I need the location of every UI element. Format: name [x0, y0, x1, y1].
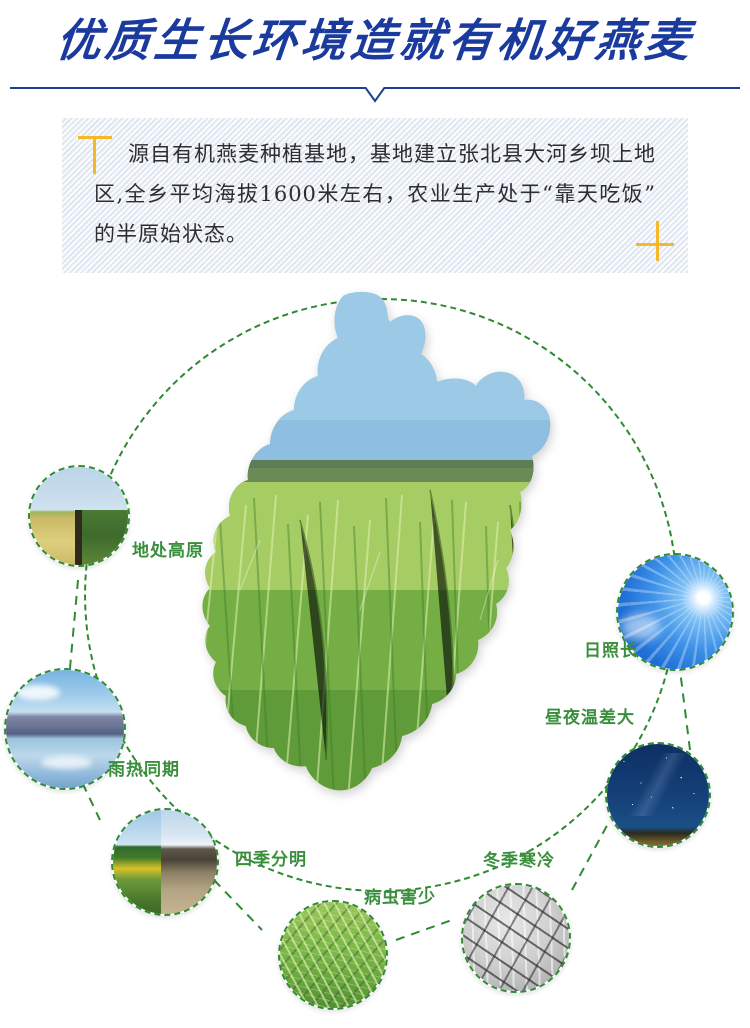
feature-label-few-pests: 病虫害少 — [364, 888, 436, 908]
title-rule-right — [385, 87, 740, 89]
oat-crop-photo[interactable] — [278, 900, 388, 1010]
feature-label-four-seasons: 四季分明 — [235, 850, 307, 870]
plateau-photo[interactable] — [28, 465, 130, 567]
product-detail-page: 优质生长环境造就有机好燕麦 源自有机燕麦种植基地，基地建立张北县大河乡坝上地区,… — [0, 0, 750, 1028]
hebei-province-map-shape — [180, 290, 600, 800]
growing-environment-diagram: 地处高原 雨热同期 四季分明 病虫害少 — [0, 280, 750, 1028]
chevron-down-icon — [365, 87, 385, 107]
page-title: 优质生长环境造就有机好燕麦 — [0, 10, 750, 72]
page-header: 优质生长环境造就有机好燕麦 — [0, 0, 750, 110]
title-rule-left — [10, 87, 365, 89]
feature-label-cold-winter: 冬季寒冷 — [483, 851, 555, 871]
description-panel: 源自有机燕麦种植基地，基地建立张北县大河乡坝上地区,全乡平均海拔1600米左右，… — [62, 118, 688, 273]
corner-bracket-bottom-right-icon — [636, 219, 674, 261]
description-text: 源自有机燕麦种植基地，基地建立张北县大河乡坝上地区,全乡平均海拔1600米左右，… — [94, 134, 656, 254]
four-seasons-photo[interactable] — [111, 808, 219, 916]
ice-photo[interactable] — [461, 883, 571, 993]
feature-label-rain-heat: 雨热同期 — [108, 760, 180, 780]
feature-label-plateau: 地处高原 — [132, 541, 204, 561]
feature-label-long-sunshine: 日照长 — [584, 641, 638, 661]
starry-night-photo[interactable] — [605, 742, 711, 848]
feature-label-temp-difference: 昼夜温差大 — [545, 708, 635, 728]
